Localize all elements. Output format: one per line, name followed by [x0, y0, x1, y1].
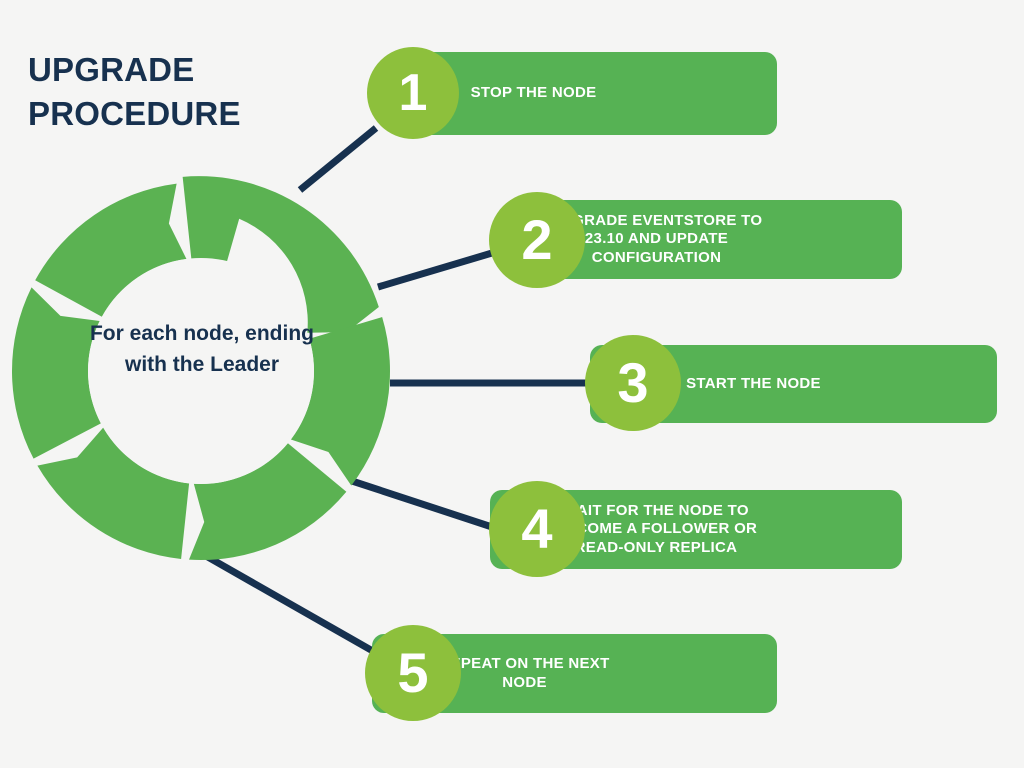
- step-number-badge-3[interactable]: 3: [585, 335, 681, 431]
- step-label-1: STOP THE NODE: [471, 84, 597, 102]
- step-number-badge-4[interactable]: 4: [489, 481, 585, 577]
- step-label-5: REPEAT ON THE NEXT NODE: [439, 655, 609, 692]
- step-bar-2[interactable]: UPGRADE EVENTSTORE TO 23.10 AND UPDATE C…: [535, 200, 902, 279]
- cycle-segment: [12, 287, 101, 458]
- step-number-badge-1[interactable]: 1: [367, 47, 459, 139]
- step-bar-1[interactable]: STOP THE NODE: [410, 52, 777, 135]
- step-number-badge-5[interactable]: 5: [365, 625, 461, 721]
- step-label-3: START THE NODE: [686, 375, 821, 393]
- step-number-badge-2[interactable]: 2: [489, 192, 585, 288]
- infographic-canvas: UPGRADE PROCEDURE For each node, ending …: [0, 0, 1024, 768]
- cycle-ring-inner-circle: [88, 258, 314, 484]
- step-label-4: WAIT FOR THE NODE TO BECOME A FOLLOWER O…: [555, 502, 757, 557]
